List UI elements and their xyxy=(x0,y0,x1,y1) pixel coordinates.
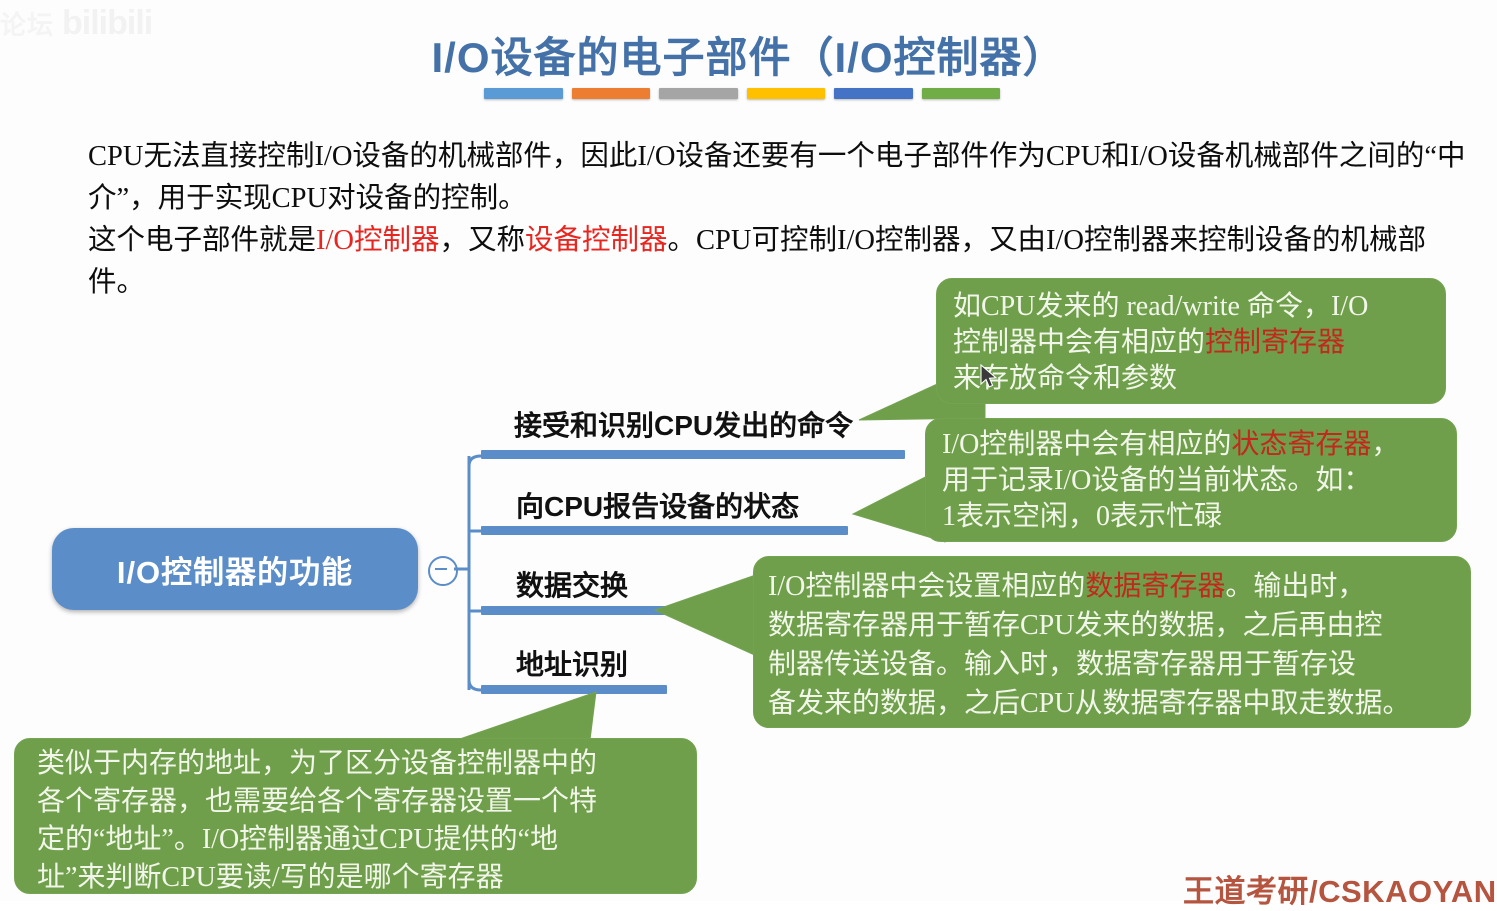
callout-control-register: 如CPU发来的 read/write 命令，I/O 控制器中会有相应的控制寄存器… xyxy=(936,278,1446,404)
callout-data-register: I/O控制器中会设置相应的数据寄存器。输出时， 数据寄存器用于暂存CPU发来的数… xyxy=(753,556,1471,728)
callout-1-line-3: 来存放命令和参数 xyxy=(953,361,1431,397)
callout-1-highlight: 控制寄存器 xyxy=(1205,327,1345,358)
callout-2-line-1: I/O控制器中会有相应的状态寄存器， xyxy=(942,427,1446,463)
callout-4-line-1: 类似于内存的地址，为了区分设备控制器中的 xyxy=(37,745,688,783)
mindmap-root-node[interactable]: I/O控制器的功能 xyxy=(52,528,418,610)
callout-4-line-1-text: 类似于内存的地址，为了区分设备控制器中的 xyxy=(37,748,597,779)
paragraph-1-text: CPU无法直接控制I/O设备的机械部件，因此I/O设备还要有一个电子部件作为CP… xyxy=(88,141,1466,214)
callout-3-line-2-text: 数据寄存器用于暂存CPU发来的数据，之后再由控 xyxy=(768,610,1382,641)
mindmap-branch-label-1[interactable]: 接受和识别CPU发出的命令 xyxy=(514,404,853,444)
rule-bar-6 xyxy=(922,88,1001,99)
title-rule-bars xyxy=(484,88,1000,100)
mindmap-branch-label-2[interactable]: 向CPU报告设备的状态 xyxy=(516,485,799,525)
callout-1-line-1-text: 如CPU发来的 read/write 命令，I/O xyxy=(953,291,1368,322)
callout-1-line-2-text: 控制器中会有相应的 xyxy=(953,327,1205,358)
callout-address-recognition: 类似于内存的地址，为了区分设备控制器中的 各个寄存器，也需要给各个寄存器设置一个… xyxy=(14,738,697,894)
callout-2-line-1-tail: ， xyxy=(1371,429,1399,460)
callout-3-line-1-tail: 。输出时， xyxy=(1225,571,1365,602)
mindmap-branch-label-4[interactable]: 地址识别 xyxy=(516,643,628,683)
callout-3-line-3-text: 制器传送设备。输入时，数据寄存器用于暂存设 xyxy=(768,649,1356,680)
callout-3-highlight: 数据寄存器 xyxy=(1085,571,1225,602)
callout-3-line-2: 数据寄存器用于暂存CPU发来的数据，之后再由控 xyxy=(768,606,1462,645)
callout-2-highlight: 状态寄存器 xyxy=(1231,429,1371,460)
mindmap-branch-label-3[interactable]: 数据交换 xyxy=(516,564,628,604)
mindmap-branch-bar-2 xyxy=(481,526,848,535)
rule-bar-2 xyxy=(572,88,651,99)
callout-3-line-3: 制器传送设备。输入时，数据寄存器用于暂存设 xyxy=(768,645,1462,684)
callout-2-line-3: 1表示空闲，0表示忙碌 xyxy=(942,499,1446,535)
callout-3-line-1: I/O控制器中会设置相应的数据寄存器。输出时， xyxy=(768,567,1462,606)
slide-canvas: 论坛 bilibili I/O设备的电子部件（I/O控制器） CPU无法直接控制… xyxy=(0,0,1497,901)
callout-4-line-2-text: 各个寄存器，也需要给各个寄存器设置一个特 xyxy=(37,786,597,817)
page-title: I/O设备的电子部件（I/O控制器） xyxy=(0,24,1497,85)
mindmap-branch-bar-3 xyxy=(481,606,667,615)
callout-3-line-1-text: I/O控制器中会设置相应的 xyxy=(768,571,1085,602)
callout-4-line-2: 各个寄存器，也需要给各个寄存器设置一个特 xyxy=(37,783,688,821)
rule-bar-5 xyxy=(834,88,913,99)
paragraph-1: CPU无法直接控制I/O设备的机械部件，因此I/O设备还要有一个电子部件作为CP… xyxy=(88,136,1466,220)
callout-1-line-2: 控制器中会有相应的控制寄存器 xyxy=(953,325,1431,361)
paragraph-2-highlight-1: I/O控制器 xyxy=(316,225,440,256)
callout-2-line-2: 用于记录I/O设备的当前状态。如： xyxy=(942,463,1446,499)
mindmap-root-label: I/O控制器的功能 xyxy=(117,547,353,592)
mouse-pointer-icon xyxy=(980,364,998,390)
callout-4-line-3: 定的“地址”。I/O控制器通过CPU提供的“地 xyxy=(37,821,688,859)
callout-1-line-1: 如CPU发来的 read/write 命令，I/O xyxy=(953,289,1431,325)
callout-2-line-2-text: 用于记录I/O设备的当前状态。如： xyxy=(942,465,1371,496)
callout-3-line-4-text: 备发来的数据，之后CPU从数据寄存器中取走数据。 xyxy=(768,688,1410,719)
footer-brand: 王道考研/CSKAOYAN.CO xyxy=(1183,866,1497,911)
paragraph-2-highlight-2: 设备控制器 xyxy=(525,225,668,256)
paragraph-2-part-b: ，又称 xyxy=(440,225,526,256)
callout-3-line-4: 备发来的数据，之后CPU从数据寄存器中取走数据。 xyxy=(768,684,1462,723)
minus-circle-icon[interactable] xyxy=(428,556,458,586)
rule-bar-1 xyxy=(484,88,563,99)
callout-status-register: I/O控制器中会有相应的状态寄存器， 用于记录I/O设备的当前状态。如： 1表示… xyxy=(925,418,1457,542)
callout-2-line-3-text: 1表示空闲，0表示忙碌 xyxy=(942,501,1222,532)
mindmap-branch-bar-1 xyxy=(481,450,905,459)
paragraph-2-part-a: 这个电子部件就是 xyxy=(88,225,316,256)
callout-4-line-4: 址”来判断CPU要读/写的是哪个寄存器 xyxy=(37,859,688,897)
callout-2-line-1-text: I/O控制器中会有相应的 xyxy=(942,429,1231,460)
callout-4-line-3-text: 定的“地址”。I/O控制器通过CPU提供的“地 xyxy=(37,824,558,855)
rule-bar-3 xyxy=(659,88,738,99)
rule-bar-4 xyxy=(747,88,826,99)
callout-4-line-4-text: 址”来判断CPU要读/写的是哪个寄存器 xyxy=(37,862,504,893)
